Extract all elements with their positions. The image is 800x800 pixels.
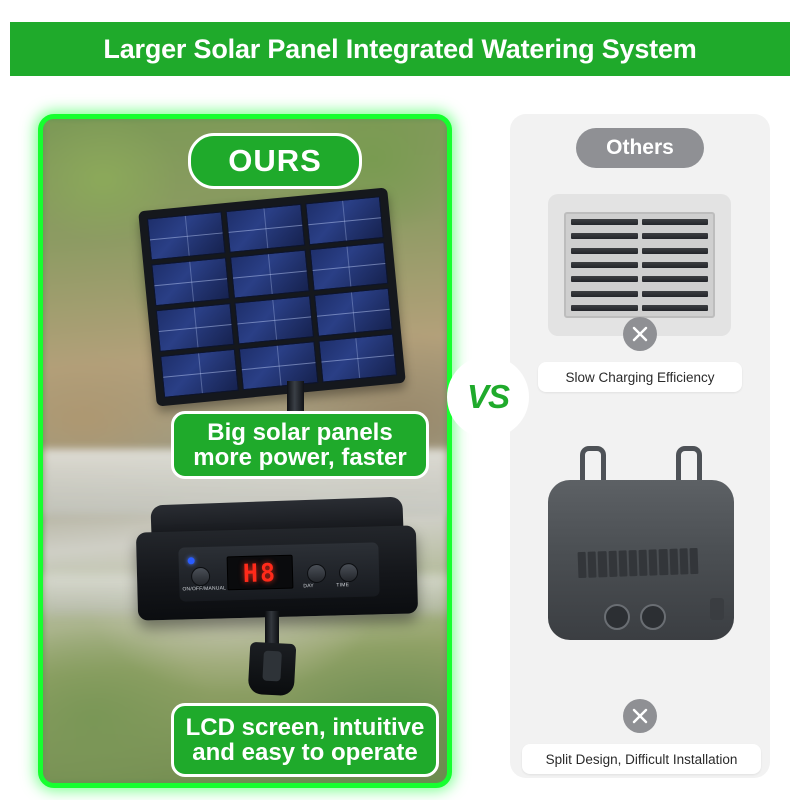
- split-device-body: [548, 480, 734, 640]
- solar-cell: [318, 334, 397, 383]
- solar-panel-frame: [138, 187, 406, 406]
- callout-line-2: and easy to operate: [192, 740, 417, 765]
- callout-big-solar-panels: Big solar panels more power, faster: [171, 411, 429, 479]
- onoff-manual-label: ON/OFF/MANUAL: [182, 585, 226, 592]
- solar-cell: [151, 257, 230, 306]
- small-panel-cell: [571, 305, 638, 311]
- small-solar-panel: [564, 212, 715, 318]
- others-badge-label: Others: [606, 136, 674, 160]
- small-panel-cell: [571, 276, 638, 282]
- solar-cell: [239, 341, 318, 390]
- vent-slot: [679, 548, 688, 574]
- vent-slot: [649, 549, 658, 575]
- x-icon: [623, 699, 657, 733]
- vent-slot: [578, 552, 587, 578]
- small-panel-cell: [642, 305, 709, 311]
- ours-panel: OURS: [38, 114, 452, 788]
- solar-cell: [226, 204, 305, 253]
- comparison-content: OURS: [0, 86, 800, 800]
- versus-badge: VS: [449, 358, 527, 436]
- vent-slot: [689, 548, 698, 574]
- vent-slot: [588, 551, 597, 577]
- power-led-indicator: [188, 557, 195, 564]
- device-vent-grille: [578, 548, 699, 578]
- callout-lcd-screen: LCD screen, intuitive and easy to operat…: [171, 703, 439, 777]
- solar-cell: [314, 288, 393, 337]
- small-panel-column: [571, 219, 638, 311]
- small-panel-cell: [642, 248, 709, 254]
- header-banner: Larger Solar Panel Integrated Watering S…: [10, 22, 790, 76]
- controller-device-image: H8 ON/OFF/MANUAL DAY TIME: [137, 501, 417, 633]
- small-panel-cell: [571, 219, 638, 225]
- vent-slot: [608, 551, 617, 577]
- others-small-solar-panel-image: [548, 194, 731, 336]
- controller-mount-clamp: [248, 642, 297, 696]
- solar-cell-grid: [147, 196, 397, 398]
- time-label: TIME: [336, 582, 349, 588]
- small-panel-column: [642, 219, 709, 311]
- callout-line-1: LCD screen, intuitive: [186, 715, 425, 740]
- solar-cell: [156, 303, 235, 352]
- day-label: DAY: [303, 583, 314, 589]
- vent-slot: [669, 549, 678, 575]
- small-panel-cell: [571, 248, 638, 254]
- vent-slot: [659, 549, 668, 575]
- time-button[interactable]: [339, 563, 358, 582]
- small-panel-cell: [642, 219, 709, 225]
- vent-slot: [598, 551, 607, 577]
- others-badge: Others: [576, 128, 704, 168]
- callout-line-2: more power, faster: [193, 445, 406, 470]
- solar-panel-image: [147, 199, 397, 414]
- small-panel-cell: [571, 233, 638, 239]
- solar-cell: [309, 242, 388, 291]
- device-port-right: [640, 604, 666, 630]
- x-icon: [623, 317, 657, 351]
- callout-line-1: Big solar panels: [207, 420, 392, 445]
- solar-cell: [147, 211, 226, 260]
- solar-cell: [160, 349, 239, 398]
- solar-cell: [305, 196, 384, 245]
- device-port-left: [604, 604, 630, 630]
- small-panel-cell: [642, 276, 709, 282]
- ours-badge-label: OURS: [228, 143, 322, 179]
- device-side-knob: [710, 598, 724, 620]
- day-button[interactable]: [307, 564, 326, 583]
- small-panel-cell: [571, 291, 638, 297]
- others-caption-split-design: Split Design, Difficult Installation: [522, 744, 761, 774]
- versus-label: VS: [467, 378, 509, 416]
- lcd-display: H8: [227, 555, 294, 591]
- controller-control-panel: H8 ON/OFF/MANUAL DAY TIME: [178, 542, 379, 601]
- others-panel: Others: [510, 114, 770, 778]
- vent-slot: [628, 550, 637, 576]
- small-panel-cell: [571, 262, 638, 268]
- onoff-manual-button[interactable]: [191, 567, 210, 586]
- others-split-device-image: [540, 436, 740, 686]
- solar-cell: [230, 250, 309, 299]
- lcd-value: H8: [243, 558, 278, 588]
- page-title: Larger Solar Panel Integrated Watering S…: [103, 34, 696, 65]
- vent-slot: [618, 550, 627, 576]
- small-panel-cell: [642, 233, 709, 239]
- others-caption-slow-charging: Slow Charging Efficiency: [538, 362, 742, 392]
- ours-badge: OURS: [188, 133, 362, 189]
- solar-cell: [235, 295, 314, 344]
- vent-slot: [639, 550, 648, 576]
- small-panel-cell: [642, 291, 709, 297]
- small-panel-cell: [642, 262, 709, 268]
